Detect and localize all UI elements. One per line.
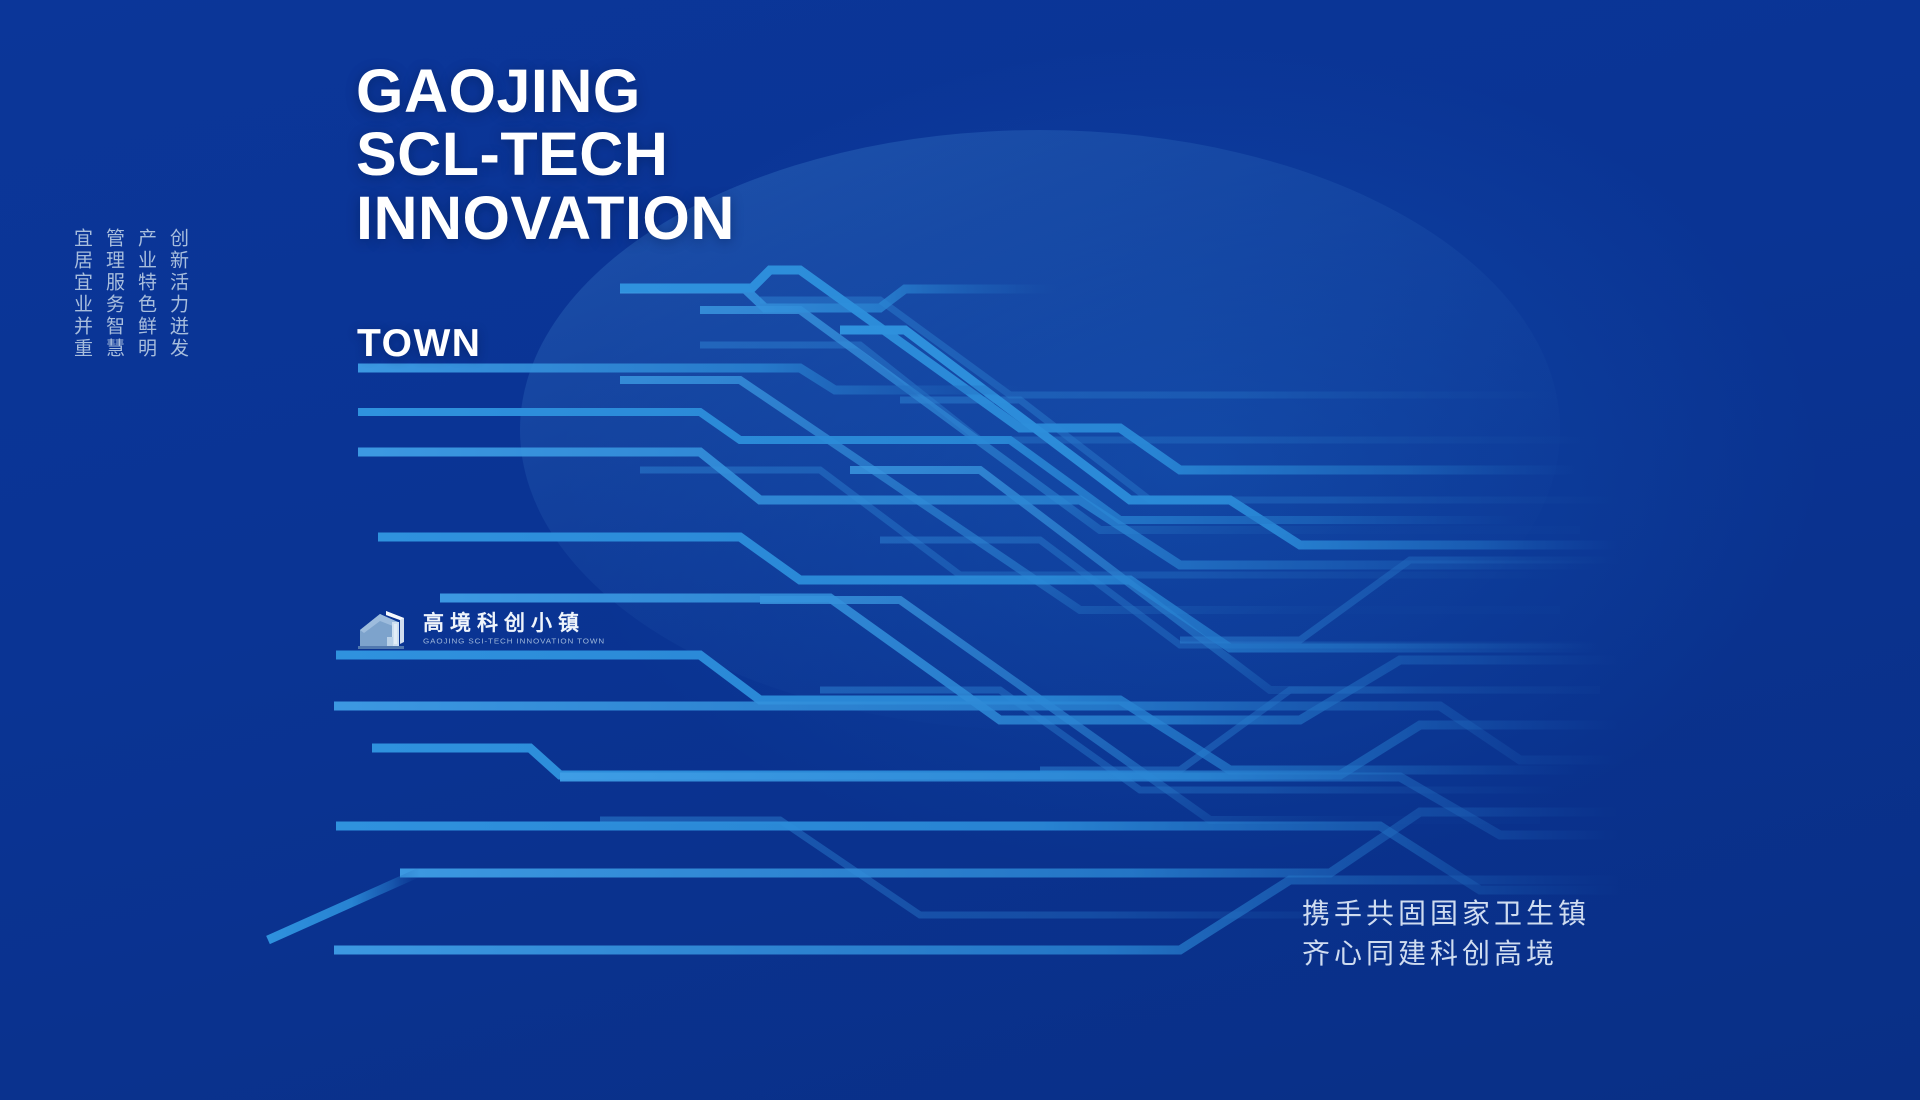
headline-line-4: TOWN <box>357 322 481 366</box>
headline-line-1: GAOJING <box>356 60 735 123</box>
vertical-slogan: 创新活力迸发 产业特色鲜明 管理服务智慧 宜居宜业并重 <box>72 228 187 360</box>
house-building-icon <box>356 606 412 652</box>
couplet-slogan: 携手共固国家卫生镇 齐心同建科创高境 <box>1302 894 1590 974</box>
vertical-slogan-line-2: 产业特色鲜明 <box>136 228 155 360</box>
poster-canvas: 创新活力迸发 产业特色鲜明 管理服务智慧 宜居宜业并重 GAOJING SCL-… <box>0 0 1920 1100</box>
vertical-slogan-line-1: 创新活力迸发 <box>168 228 187 360</box>
brand-logo-text: 高境科创小镇 GAOJING SCI-TECH INNOVATION TOWN <box>423 612 605 645</box>
headline-line-2: SCL-TECH <box>356 123 735 186</box>
circuit-trace-pattern <box>0 0 1920 1100</box>
page-title: GAOJING SCL-TECH INNOVATION <box>356 60 735 250</box>
brand-logo: 高境科创小镇 GAOJING SCI-TECH INNOVATION TOWN <box>356 606 605 652</box>
vertical-slogan-line-3: 管理服务智慧 <box>104 228 123 360</box>
brand-name-chinese: 高境科创小镇 <box>423 612 605 634</box>
couplet-line-1: 携手共固国家卫生镇 <box>1302 894 1590 934</box>
brand-name-english: GAOJING SCI-TECH INNOVATION TOWN <box>423 637 605 645</box>
couplet-line-2: 齐心同建科创高境 <box>1302 934 1590 974</box>
vertical-slogan-line-4: 宜居宜业并重 <box>72 228 91 360</box>
headline-line-3: INNOVATION <box>356 187 735 250</box>
